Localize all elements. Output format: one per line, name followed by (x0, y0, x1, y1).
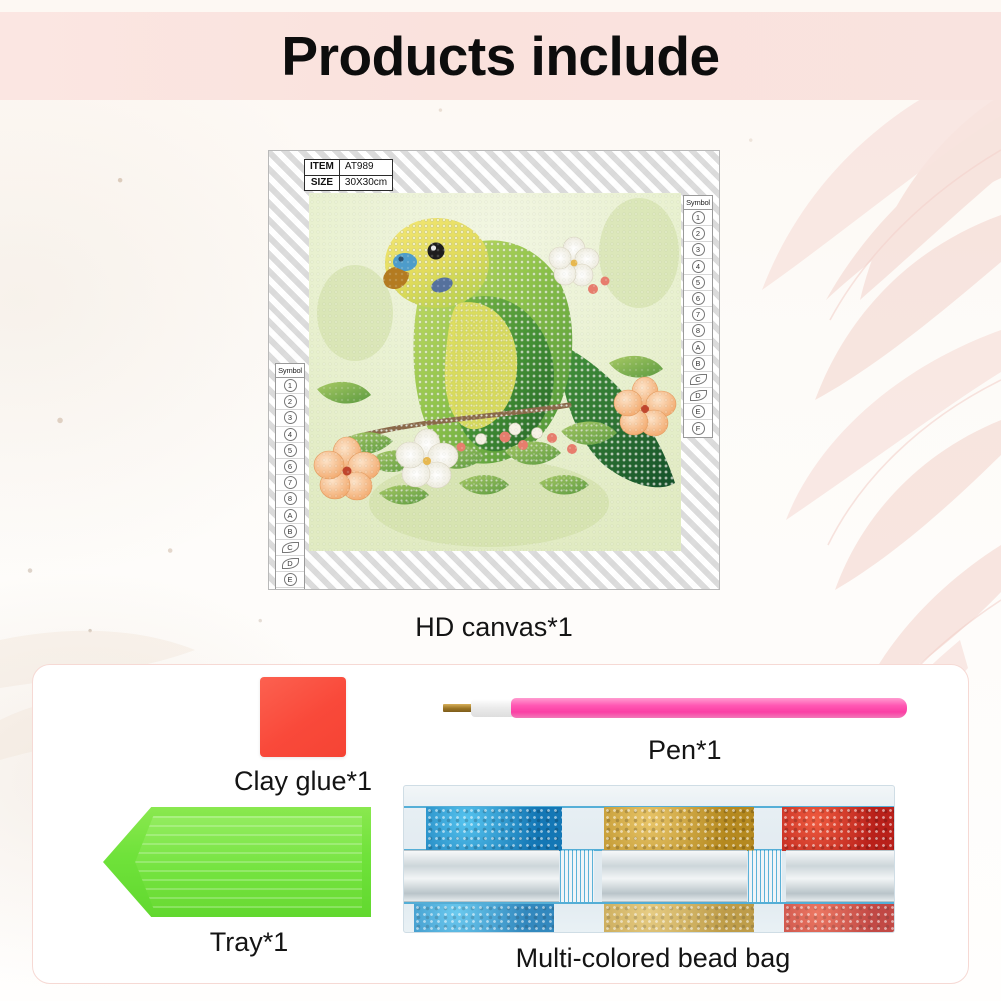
symbol-glyph: 1 (284, 379, 297, 392)
canvas-info-table: ITEM AT989 SIZE 30X30cm (304, 159, 393, 191)
foil-strip (602, 850, 747, 902)
list-item: E (276, 572, 304, 588)
parrot-artwork (309, 193, 681, 551)
list-item: 2 (276, 394, 304, 410)
bead-bag-caption: Multi-colored bead bag (403, 943, 903, 974)
symbol-glyph: D (690, 390, 707, 401)
symbol-glyph: 5 (692, 276, 705, 289)
bag-seam (748, 850, 782, 902)
gold-bead-field-lower (604, 904, 754, 932)
list-item: D (684, 388, 712, 404)
symbol-glyph: A (692, 341, 705, 354)
list-item: 5 (684, 275, 712, 291)
clay-glue-icon (260, 677, 346, 757)
foil-strip (786, 850, 895, 902)
pen-shaft (511, 698, 907, 718)
label-item-value: AT989 (339, 160, 392, 176)
hd-canvas-product: ITEM AT989 SIZE 30X30cm Symbol 1 2 3 4 5… (268, 150, 720, 590)
list-item: B (684, 356, 712, 372)
symbol-legend-right-header: Symbol (684, 196, 712, 210)
symbol-glyph: 3 (284, 411, 297, 424)
red-bead-field (782, 807, 894, 851)
foil-strip (404, 850, 559, 902)
symbol-glyph: 8 (284, 492, 297, 505)
clay-glue-caption: Clay glue*1 (203, 766, 403, 797)
bead-bag-icon (403, 785, 895, 933)
pen-ferrule (471, 699, 515, 717)
tray-inner-well (135, 816, 362, 908)
symbol-glyph: B (692, 357, 705, 370)
list-item: 6 (684, 291, 712, 307)
symbol-glyph: E (284, 573, 297, 586)
list-item: 6 (276, 459, 304, 475)
hd-canvas-caption: HD canvas*1 (268, 612, 720, 643)
list-item: 3 (684, 242, 712, 258)
drill-pen-icon (443, 691, 943, 725)
blue-bead-field-lower (414, 904, 554, 932)
list-item: 8 (684, 323, 712, 339)
bead-dot-overlay (309, 193, 681, 551)
symbol-glyph: 8 (692, 324, 705, 337)
list-item: 7 (276, 475, 304, 491)
table-row: SIZE 30X30cm (305, 175, 393, 191)
bead-bag-item: Multi-colored bead bag (403, 785, 903, 974)
symbol-glyph: 1 (692, 211, 705, 224)
symbol-glyph: 7 (284, 476, 297, 489)
list-item: C (684, 372, 712, 388)
red-bead-field-lower (784, 904, 894, 932)
label-size-key: SIZE (305, 175, 340, 191)
symbol-legend-right: Symbol 1 2 3 4 5 6 7 8 A B C D E F (683, 195, 713, 438)
list-item: D (276, 556, 304, 572)
symbol-glyph: 3 (692, 243, 705, 256)
list-item: F (684, 420, 712, 436)
clay-glue-item: Clay glue*1 (203, 677, 403, 797)
symbol-glyph: 2 (284, 395, 297, 408)
list-item: B (276, 524, 304, 540)
symbol-glyph: D (282, 558, 299, 569)
page-title: Products include (0, 24, 1001, 88)
symbol-glyph: 6 (284, 460, 297, 473)
gold-bead-field (604, 807, 754, 851)
list-item: 4 (276, 427, 304, 443)
supplies-card: Clay glue*1 Pen*1 Tray*1 (32, 664, 969, 984)
list-item: 8 (276, 491, 304, 507)
tray-caption: Tray*1 (65, 927, 395, 958)
tray-item: Tray*1 (65, 807, 395, 958)
symbol-legend-left: Symbol 1 2 3 4 5 6 7 8 A B C D E F (275, 363, 305, 590)
symbol-glyph: F (692, 422, 705, 435)
symbol-glyph: C (690, 374, 707, 385)
bead-tray-icon (103, 807, 371, 917)
list-item: E (684, 404, 712, 420)
list-item: A (684, 340, 712, 356)
symbol-glyph: 4 (692, 260, 705, 273)
list-item: 4 (684, 259, 712, 275)
list-item: A (276, 508, 304, 524)
symbol-glyph: 2 (692, 227, 705, 240)
symbol-legend-left-header: Symbol (276, 364, 304, 378)
list-item: 5 (276, 443, 304, 459)
list-item: 2 (684, 226, 712, 242)
bag-seam (560, 850, 594, 902)
list-item: 1 (276, 378, 304, 394)
canvas-frame: ITEM AT989 SIZE 30X30cm Symbol 1 2 3 4 5… (268, 150, 720, 590)
pen-caption: Pen*1 (648, 735, 722, 766)
list-item: 1 (684, 210, 712, 226)
list-item: C (276, 540, 304, 556)
symbol-glyph: C (282, 542, 299, 553)
symbol-glyph: 5 (284, 444, 297, 457)
list-item: F (276, 588, 304, 590)
label-size-value: 30X30cm (339, 175, 392, 191)
symbol-glyph: E (692, 405, 705, 418)
label-item-key: ITEM (305, 160, 340, 176)
symbol-glyph: 4 (284, 428, 297, 441)
blue-bead-field (426, 807, 562, 851)
table-row: ITEM AT989 (305, 160, 393, 176)
symbol-glyph: B (284, 525, 297, 538)
list-item: 3 (276, 410, 304, 426)
symbol-glyph: 7 (692, 308, 705, 321)
symbol-glyph: A (284, 509, 297, 522)
pen-item: Pen*1 (443, 691, 943, 725)
list-item: 7 (684, 307, 712, 323)
symbol-glyph: 6 (692, 292, 705, 305)
